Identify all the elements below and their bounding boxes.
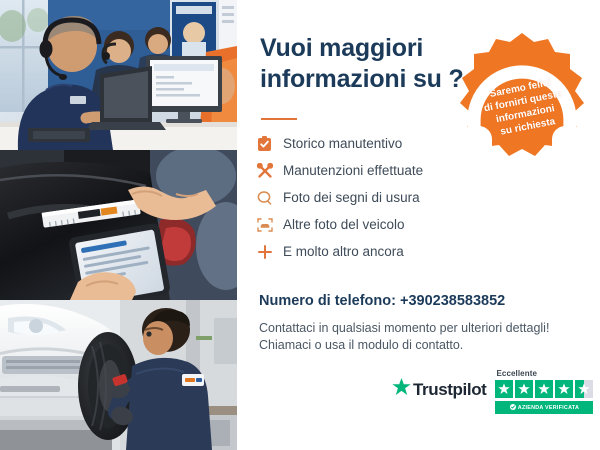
list-item: Altre foto del veicolo — [257, 211, 507, 238]
trustpilot-logo: Trustpilot — [392, 378, 486, 401]
magnifier-icon — [257, 190, 283, 206]
mechanic-wheel-service-photo — [0, 300, 237, 450]
list-item-label: Altre foto del veicolo — [283, 218, 405, 232]
headline-line-2: informazioni su ? — [260, 64, 475, 95]
trustpilot-rating: Eccellente — [495, 369, 593, 414]
list-item: Foto dei segni di usura — [257, 184, 507, 211]
list-item: Manutenzioni effettuate — [257, 157, 507, 184]
title-divider — [261, 118, 297, 120]
list-item-label: Storico manutentivo — [283, 137, 402, 151]
phone-number: Numero di telefono: +390238583852 — [259, 293, 505, 309]
contact-subtext-line-1: Contattaci in qualsiasi momento per ulte… — [259, 320, 549, 337]
trustpilot-wordmark: Trustpilot — [413, 380, 486, 400]
clipboard-check-icon — [257, 136, 283, 152]
star-filled — [535, 380, 553, 398]
trustpilot-rating-word: Eccellente — [496, 369, 537, 378]
headline-line-1: Vuoi maggiori — [260, 34, 423, 62]
call-center-agent-headset-photo — [0, 0, 237, 150]
list-item-label: E molto altro ancora — [283, 245, 404, 259]
list-item: Storico manutentivo — [257, 130, 507, 157]
star-filled — [495, 380, 513, 398]
star-filled — [515, 380, 533, 398]
verified-label: AZIENDA VERIFICATA — [518, 405, 579, 411]
car-scan-icon — [257, 217, 283, 233]
photo-column — [0, 0, 237, 450]
star-filled — [555, 380, 573, 398]
status-badge: AZIENDA VERIFICATA — [495, 401, 593, 414]
content-panel: Vuoi maggiori informazioni su ? Saremo f… — [237, 0, 600, 450]
tools-cross-icon — [257, 163, 283, 179]
page-title: Vuoi maggiori informazioni su ? — [260, 33, 475, 94]
promo-banner: Vuoi maggiori informazioni su ? Saremo f… — [0, 0, 600, 450]
vehicle-inspection-tablet-photo — [0, 150, 237, 300]
list-item-label: Foto dei segni di usura — [283, 191, 420, 205]
verified-check-icon — [510, 404, 516, 412]
trustpilot-stars — [495, 380, 593, 398]
list-item-label: Manutenzioni effettuate — [283, 164, 423, 178]
trustpilot-star-icon — [392, 378, 411, 401]
contact-subtext-line-2: Chiamaci o usa il modulo di contatto. — [259, 337, 463, 354]
feature-list: Storico manutentivo Manutenzioni effettu… — [257, 130, 507, 265]
star-half — [575, 380, 593, 398]
plus-icon — [257, 244, 283, 260]
trustpilot-widget[interactable]: Trustpilot Eccellente — [392, 369, 593, 414]
list-item: E molto altro ancora — [257, 238, 507, 265]
